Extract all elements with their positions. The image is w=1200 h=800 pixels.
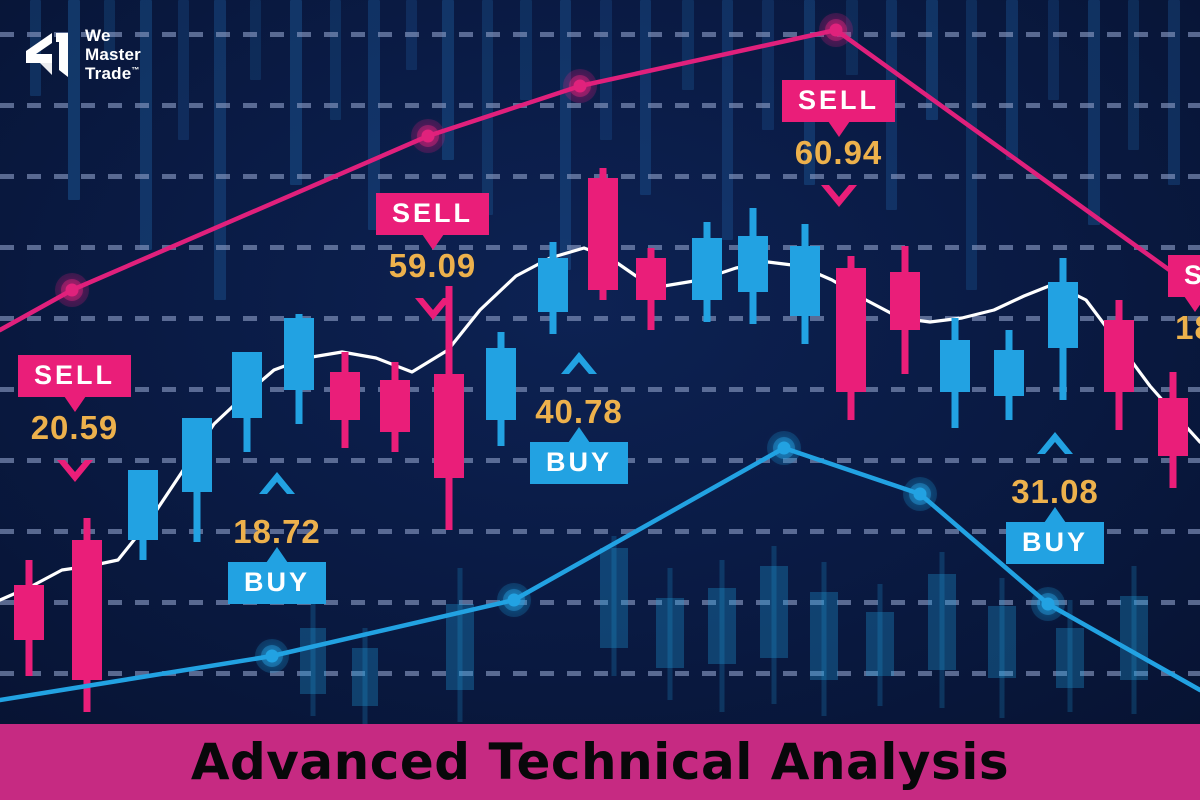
chevron-down-icon [55,458,95,489]
chevron-up-icon [1035,430,1075,461]
signal-price-label: 59.09 [389,249,477,282]
buy-badge[interactable]: BUY [1006,522,1104,564]
chevron-down-icon [413,296,453,327]
we-master-trade-arrow-logo [22,29,74,81]
badge-tail [1044,507,1066,523]
sell-badge[interactable]: SELL [782,80,895,122]
signal-marker-sell-0[interactable]: SELL20.59 [18,355,131,489]
chevron-down-glyph [57,460,93,482]
technical-analysis-chart-banner: SELL20.5918.72BUYSELL59.0940.78BUYSELL60… [0,0,1200,800]
chevron-up-icon [559,350,599,381]
chevron-up-glyph [259,472,295,494]
buy-badge[interactable]: BUY [530,442,628,484]
bottom-banner: Advanced Technical Analysis [0,724,1200,800]
signal-marker-buy-5[interactable]: 31.08BUY [1006,430,1104,564]
signal-price-label: 18 [1175,311,1200,344]
buy-badge[interactable]: BUY [228,562,326,604]
chevron-down-icon [819,183,859,214]
sell-badge[interactable]: SELL [376,193,489,235]
chevron-down-glyph [821,185,857,207]
signal-price-label: 18.72 [233,515,321,548]
chevron-up-glyph [1037,432,1073,454]
brand-line-3: Trade [85,64,131,83]
brand-wordmark: We Master Trade™ [85,26,141,83]
sell-badge[interactable]: S [1168,255,1200,297]
chevron-down-glyph [415,298,451,320]
trademark-symbol: ™ [131,65,139,74]
signal-price-label: 20.59 [31,411,119,444]
badge-tail [568,427,590,443]
badge-tail [64,396,86,412]
signal-markers: SELL20.5918.72BUYSELL59.0940.78BUYSELL60… [0,0,1200,800]
chevron-up-icon [257,470,297,501]
chevron-up-glyph [561,352,597,374]
signal-price-label: 40.78 [535,395,623,428]
brand-line-1: We [85,26,111,45]
signal-marker-sell-4[interactable]: SELL60.94 [782,80,895,214]
brand-line-2: Master [85,45,141,64]
badge-tail [266,547,288,563]
signal-price-label: 31.08 [1011,475,1099,508]
badge-tail [422,234,444,250]
brand-logo: We Master Trade™ [22,26,141,83]
signal-marker-sell-2[interactable]: SELL59.09 [376,193,489,327]
sell-badge[interactable]: SELL [18,355,131,397]
signal-marker-sell-6[interactable]: S18 [1168,255,1200,358]
badge-tail [1184,296,1200,312]
signal-marker-buy-1[interactable]: 18.72BUY [228,470,326,604]
badge-tail [828,121,850,137]
signal-price-label: 60.94 [795,136,883,169]
banner-title: Advanced Technical Analysis [191,733,1009,791]
signal-marker-buy-3[interactable]: 40.78BUY [530,350,628,484]
